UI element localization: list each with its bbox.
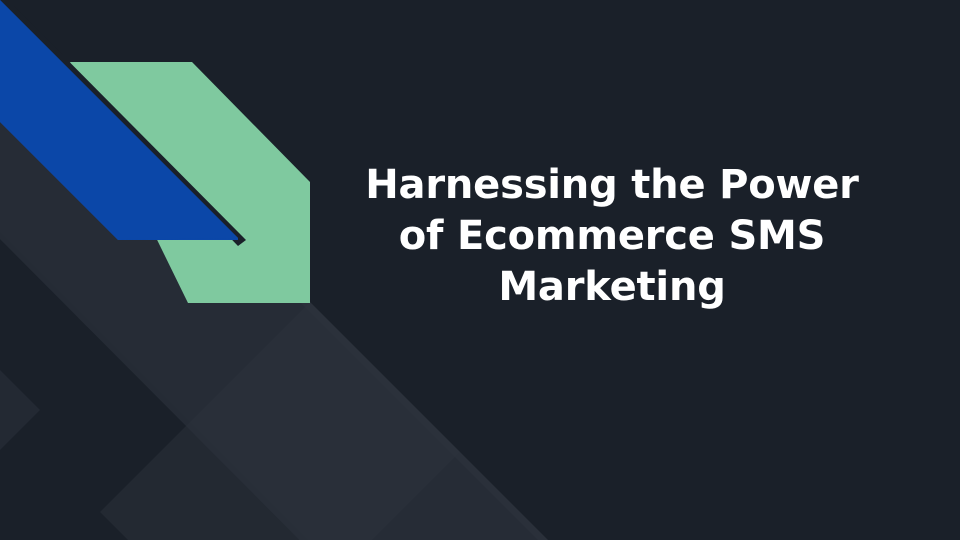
title-slide: Harnessing the Power of Ecommerce SMS Ma… <box>0 0 960 540</box>
title-block: Harnessing the Power of Ecommerce SMS Ma… <box>312 160 912 314</box>
slide-title: Harnessing the Power of Ecommerce SMS Ma… <box>312 160 912 314</box>
